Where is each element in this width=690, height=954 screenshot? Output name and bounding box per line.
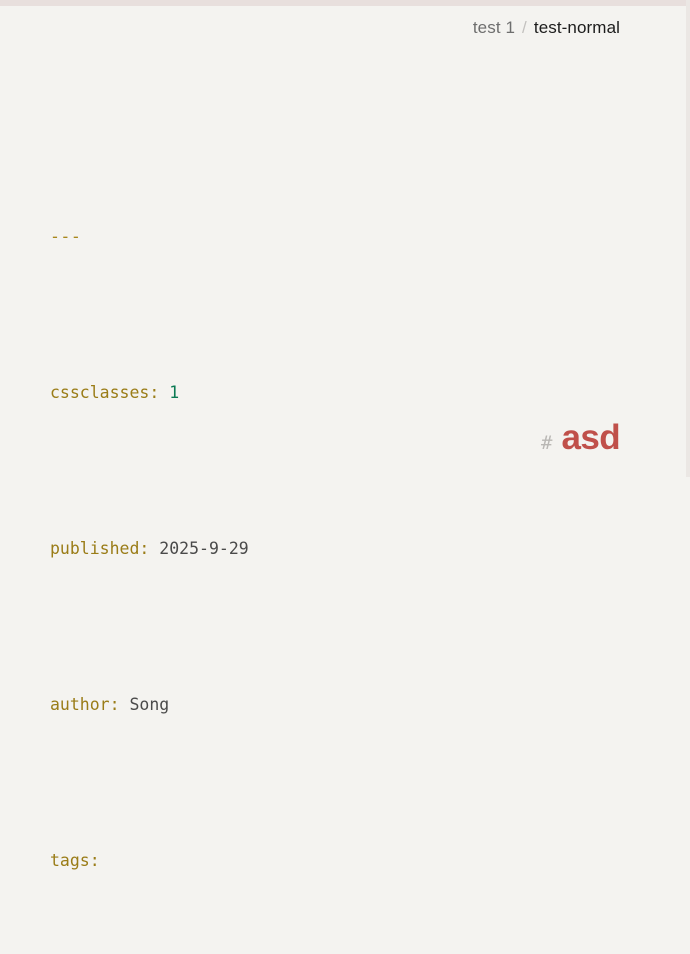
yaml-open-delimiter-line: --- bbox=[50, 217, 249, 256]
yaml-key-author: author bbox=[50, 695, 110, 714]
yaml-field-author: author: Song bbox=[50, 685, 249, 724]
yaml-value-cssclasses: 1 bbox=[169, 383, 179, 402]
yaml-frontmatter-block[interactable]: --- cssclasses: 1 published: 2025-9-29 a… bbox=[50, 100, 249, 954]
breadcrumb-separator-icon: / bbox=[522, 18, 527, 38]
yaml-key-tags: tags bbox=[50, 851, 90, 870]
heading-hash-icon: # bbox=[541, 432, 552, 454]
yaml-value-author: Song bbox=[129, 695, 169, 714]
yaml-key-published: published bbox=[50, 539, 139, 558]
breadcrumb-parent[interactable]: test 1 bbox=[473, 18, 515, 38]
yaml-value-published: 2025-9-29 bbox=[159, 539, 248, 558]
yaml-key-cssclasses: cssclasses bbox=[50, 383, 149, 402]
markdown-heading-1[interactable]: # asd bbox=[541, 420, 620, 455]
breadcrumb: test 1 / test-normal bbox=[473, 18, 620, 38]
heading-text: asd bbox=[561, 420, 620, 455]
yaml-colon: : bbox=[149, 383, 159, 402]
window-right-strip bbox=[686, 0, 690, 477]
yaml-field-tags: tags: bbox=[50, 841, 249, 880]
breadcrumb-current-note[interactable]: test-normal bbox=[534, 18, 620, 38]
yaml-colon: : bbox=[90, 851, 100, 870]
yaml-colon: : bbox=[110, 695, 120, 714]
yaml-field-published: published: 2025-9-29 bbox=[50, 529, 249, 568]
yaml-field-cssclasses: cssclasses: 1 bbox=[50, 373, 249, 412]
window-top-strip bbox=[0, 0, 690, 6]
yaml-colon: : bbox=[139, 539, 149, 558]
note-editor-window: test 1 / test-normal --- cssclasses: 1 p… bbox=[0, 0, 690, 477]
yaml-open-delimiter: --- bbox=[50, 227, 81, 246]
